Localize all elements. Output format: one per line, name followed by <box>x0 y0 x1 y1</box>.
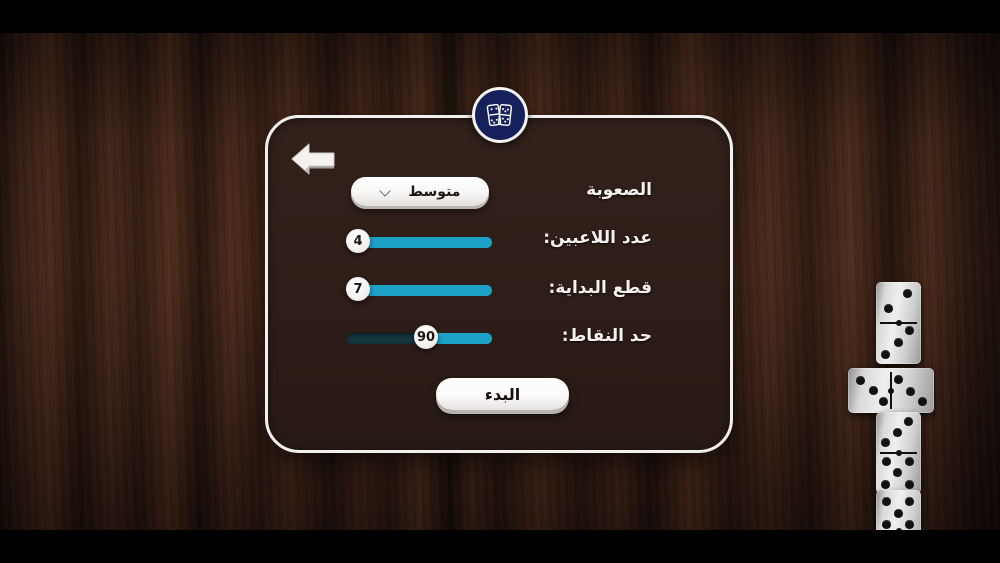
start-button-label: البدء <box>485 385 520 404</box>
domino-center-nub <box>896 320 902 326</box>
domino-pip <box>905 457 914 466</box>
points-limit-value: 90 <box>417 330 435 345</box>
game-logo-badge <box>472 87 528 143</box>
domino-pip <box>893 428 902 437</box>
domino-pip <box>904 417 913 426</box>
domino-pip <box>893 468 902 477</box>
domino-pip <box>905 480 914 489</box>
back-arrow-button[interactable] <box>289 142 337 176</box>
domino-pip <box>882 520 891 529</box>
domino-pip <box>905 497 914 506</box>
label-players: عدد اللاعبين: <box>543 228 652 248</box>
difficulty-dropdown[interactable]: متوسط <box>351 177 489 206</box>
domino-pip <box>903 289 912 298</box>
points-limit-slider[interactable]: 90 <box>346 325 492 351</box>
starting-pieces-slider[interactable]: 7 <box>346 277 492 303</box>
domino-pip <box>918 397 927 406</box>
domino-pip <box>894 375 903 384</box>
label-difficulty: الصعوبة <box>586 180 652 200</box>
domino-tile-1 <box>876 282 921 364</box>
domino-pip <box>869 386 878 395</box>
domino-pip <box>881 480 890 489</box>
slider-knob[interactable]: 7 <box>346 277 370 301</box>
domino-center-nub <box>888 388 894 394</box>
domino-tiles-icon <box>484 99 516 131</box>
domino-pip <box>905 326 914 335</box>
domino-pip <box>894 338 903 347</box>
letterbox-bar-top <box>0 0 1000 33</box>
difficulty-selected-value: متوسط <box>409 184 461 200</box>
settings-panel: الصعوبة عدد اللاعبين: قطع البداية: حد ال… <box>265 115 733 453</box>
players-value: 4 <box>353 234 362 249</box>
domino-pip <box>881 350 890 359</box>
start-button[interactable]: البدء <box>436 378 569 410</box>
domino-pip <box>856 376 865 385</box>
slider-knob[interactable]: 4 <box>346 229 370 253</box>
domino-pip <box>905 520 914 529</box>
back-arrow-icon <box>289 142 337 176</box>
letterbox-bar-bottom <box>0 530 1000 563</box>
slider-fill <box>357 237 492 248</box>
domino-pip <box>879 397 888 406</box>
domino-pip <box>894 509 903 518</box>
domino-tile-3 <box>876 412 921 494</box>
label-starting-pieces: قطع البداية: <box>548 278 652 298</box>
slider-knob[interactable]: 90 <box>414 325 438 349</box>
domino-pip <box>881 438 890 447</box>
starting-pieces-value: 7 <box>353 282 362 297</box>
domino-pip <box>906 387 915 396</box>
domino-tile-2 <box>848 368 934 413</box>
players-slider[interactable]: 4 <box>346 229 492 255</box>
label-points-limit: حد النقاط: <box>562 326 652 346</box>
game-screen: الصعوبة عدد اللاعبين: قطع البداية: حد ال… <box>0 0 1000 563</box>
domino-decoration-stack <box>848 282 958 542</box>
domino-pip <box>884 304 893 313</box>
chevron-down-icon <box>380 186 391 197</box>
domino-pip <box>882 457 891 466</box>
slider-fill <box>357 285 492 296</box>
domino-pip <box>882 497 891 506</box>
domino-center-nub <box>896 450 902 456</box>
